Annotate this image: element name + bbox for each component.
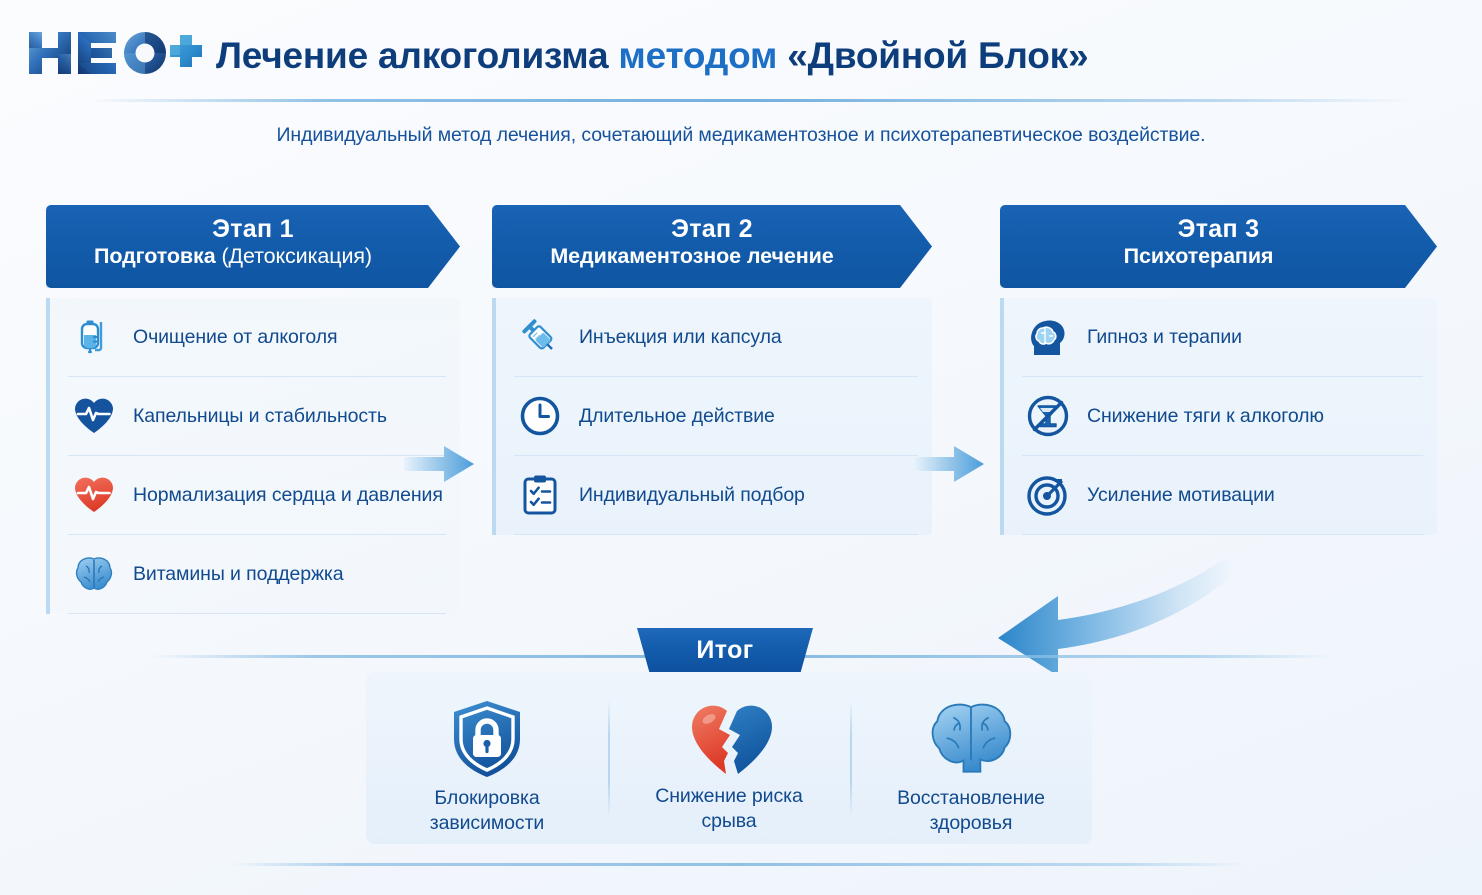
feature-label: Витамины и поддержка (133, 563, 344, 586)
result-label-line1: Снижение риска (655, 785, 802, 807)
feature-item[interactable]: Длительное действие (514, 377, 918, 456)
brain-big-icon (928, 698, 1014, 780)
neo-plus-logo-icon[interactable] (26, 28, 202, 78)
broken-heart-icon (686, 698, 772, 778)
page-header: Лечение алкоголизма методом «Двойной Бло… (0, 0, 1482, 100)
stage-1-body: Очищение от алкоголя Капельницы и стабил… (46, 298, 460, 614)
feature-item[interactable]: Индивидуальный подбор (514, 456, 918, 535)
feature-item[interactable]: Снижение тяги к алкоголю (1022, 377, 1423, 456)
result-banner[interactable]: Итог (637, 628, 813, 672)
result-label-line2: зависимости (430, 812, 544, 834)
feature-item[interactable]: Капельницы и стабильность (68, 377, 446, 456)
feature-item[interactable]: Нормализация сердца и давления (68, 456, 446, 535)
stage-3-header[interactable]: Этап 3 Психотерапия (1000, 205, 1437, 288)
result-label-line2: срыва (701, 810, 756, 832)
no-alcohol-glass-icon (1026, 394, 1070, 438)
bottom-divider (230, 863, 1250, 866)
heart-pulse-red-icon (72, 473, 116, 517)
stage-2-title: Медикаментозное лечение (492, 243, 932, 270)
stage-column-2: Этап 2 Медикаментозное лечение (492, 205, 932, 535)
feature-label: Индивидуальный подбор (579, 484, 805, 507)
iv-drip-icon (72, 315, 116, 359)
arrow-right-icon (402, 441, 476, 487)
result-label-line1: Блокировка (434, 787, 539, 809)
arrow-right-icon (912, 441, 986, 487)
page-subtitle: Индивидуальный метод лечения, сочетающий… (0, 124, 1482, 147)
stage-1-title: Подготовка (Детоксикация) (46, 243, 460, 270)
feature-item[interactable]: Усиление мотивации (1022, 456, 1423, 535)
stage-3-title: Психотерапия (1000, 243, 1437, 270)
feature-label: Очищение от алкоголя (133, 326, 337, 349)
title-part-3: «Двойной Блок» (787, 35, 1088, 76)
stage-2-body: Инъекция или капсула Длительное действие (492, 298, 932, 535)
title-part-1: Лечение алкоголизма (216, 35, 608, 76)
stage-1-header[interactable]: Этап 1 Подготовка (Детоксикация) (46, 205, 460, 288)
feature-label: Длительное действие (579, 405, 775, 428)
page-title: Лечение алкоголизма методом «Двойной Бло… (216, 35, 1088, 77)
stage-2-header[interactable]: Этап 2 Медикаментозное лечение (492, 205, 932, 288)
result-label-line1: Восстановление (897, 787, 1045, 809)
feature-item[interactable]: Очищение от алкоголя (68, 298, 446, 377)
feature-label: Снижение тяги к алкоголю (1087, 405, 1324, 428)
feature-label: Капельницы и стабильность (133, 405, 387, 428)
stage-column-3: Этап 3 Психотерапия Гипноз и терапии (1000, 205, 1437, 535)
feature-label: Усиление мотивации (1087, 484, 1275, 507)
result-item[interactable]: Восстановление здоровья (850, 692, 1092, 824)
curved-arrow-left-icon (970, 548, 1300, 678)
result-panel: Блокировка зависимости Снижение (366, 672, 1092, 844)
stages-container: Этап 1 Подготовка (Детоксикация) (0, 205, 1482, 555)
header-divider (88, 99, 1408, 102)
clock-icon (518, 394, 562, 438)
stage-2-label: Этап 2 (492, 216, 932, 243)
feature-item[interactable]: Витамины и поддержка (68, 535, 446, 614)
result-item[interactable]: Снижение риска срыва (608, 692, 850, 824)
feature-label: Инъекция или капсула (579, 326, 782, 349)
result-label: Блокировка зависимости (430, 786, 544, 836)
brain-icon (72, 552, 116, 596)
target-arrow-icon (1026, 473, 1070, 517)
feature-item[interactable]: Гипноз и терапии (1022, 298, 1423, 377)
heart-pulse-dark-icon (72, 394, 116, 438)
result-label: Снижение риска срыва (655, 784, 802, 834)
stage-column-1: Этап 1 Подготовка (Детоксикация) (46, 205, 460, 614)
shield-lock-icon (444, 698, 530, 780)
feature-label: Гипноз и терапии (1087, 326, 1242, 349)
feature-label: Нормализация сердца и давления (133, 484, 443, 507)
stage-3-body: Гипноз и терапии Снижение тяги к алкогол… (1000, 298, 1437, 535)
feature-item[interactable]: Инъекция или капсула (514, 298, 918, 377)
syringe-icon (518, 315, 562, 359)
result-item[interactable]: Блокировка зависимости (366, 692, 608, 824)
stage-1-title-suffix: (Детоксикация) (221, 244, 372, 268)
stage-1-title-main: Подготовка (94, 244, 216, 268)
stage-3-label: Этап 3 (1000, 216, 1437, 243)
result-label-line2: здоровья (930, 812, 1013, 834)
stage-1-label: Этап 1 (46, 216, 460, 243)
head-brain-icon (1026, 315, 1070, 359)
title-part-2: методом (618, 35, 777, 76)
result-label: Восстановление здоровья (897, 786, 1045, 836)
checklist-icon (518, 473, 562, 517)
